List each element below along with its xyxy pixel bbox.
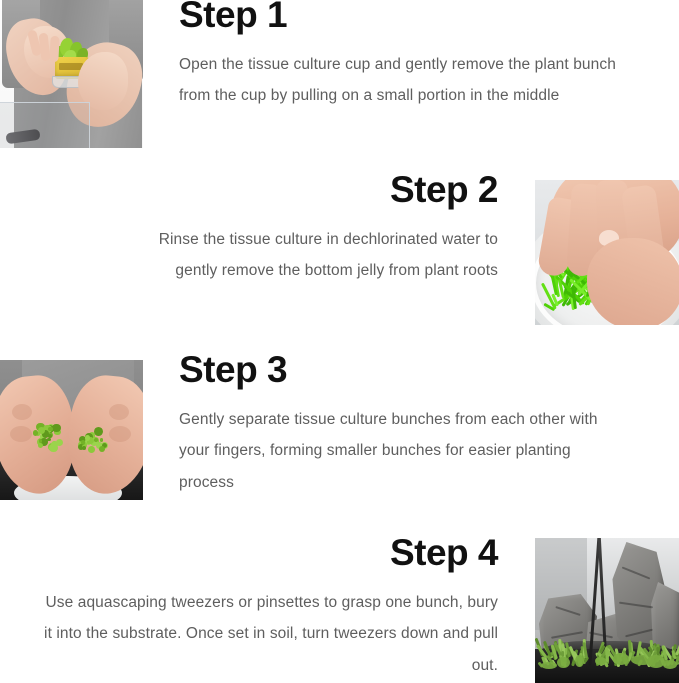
step-1-description: Open the tissue culture cup and gently r… <box>179 49 619 113</box>
step-2-text-block: Step 2 Rinse the tissue culture in dechl… <box>150 169 498 287</box>
step-1-photo-opening-tissue-culture-cup <box>0 0 143 148</box>
step-4-text-block: Step 4 Use aquascaping tweezers or pinse… <box>40 532 498 682</box>
step-4-photo-planting-with-tweezers <box>535 538 679 683</box>
step-4-title: Step 4 <box>40 532 498 575</box>
step-3-description: Gently separate tissue culture bunches f… <box>179 404 619 499</box>
step-2-title: Step 2 <box>150 169 498 212</box>
step-2-photo-rinsing-plant-in-bowl <box>535 180 679 325</box>
step-4-description: Use aquascaping tweezers or pinsettes to… <box>40 587 498 682</box>
step-row-2: Step 2 Rinse the tissue culture in dechl… <box>0 155 679 340</box>
step-2-description: Rinse the tissue culture in dechlorinate… <box>150 224 498 288</box>
step-row-4: Step 4 Use aquascaping tweezers or pinse… <box>0 520 679 683</box>
step-1-text-block: Step 1 Open the tissue culture cup and g… <box>179 0 619 112</box>
step-3-title: Step 3 <box>179 349 619 392</box>
step-row-1: Step 1 Open the tissue culture cup and g… <box>0 0 679 155</box>
step-1-title: Step 1 <box>179 0 619 37</box>
steps-infographic: Step 1 Open the tissue culture cup and g… <box>0 0 679 683</box>
step-3-text-block: Step 3 Gently separate tissue culture bu… <box>179 349 619 499</box>
step-3-photo-separating-bunches <box>0 360 143 500</box>
step-row-3: Step 3 Gently separate tissue culture bu… <box>0 340 679 520</box>
